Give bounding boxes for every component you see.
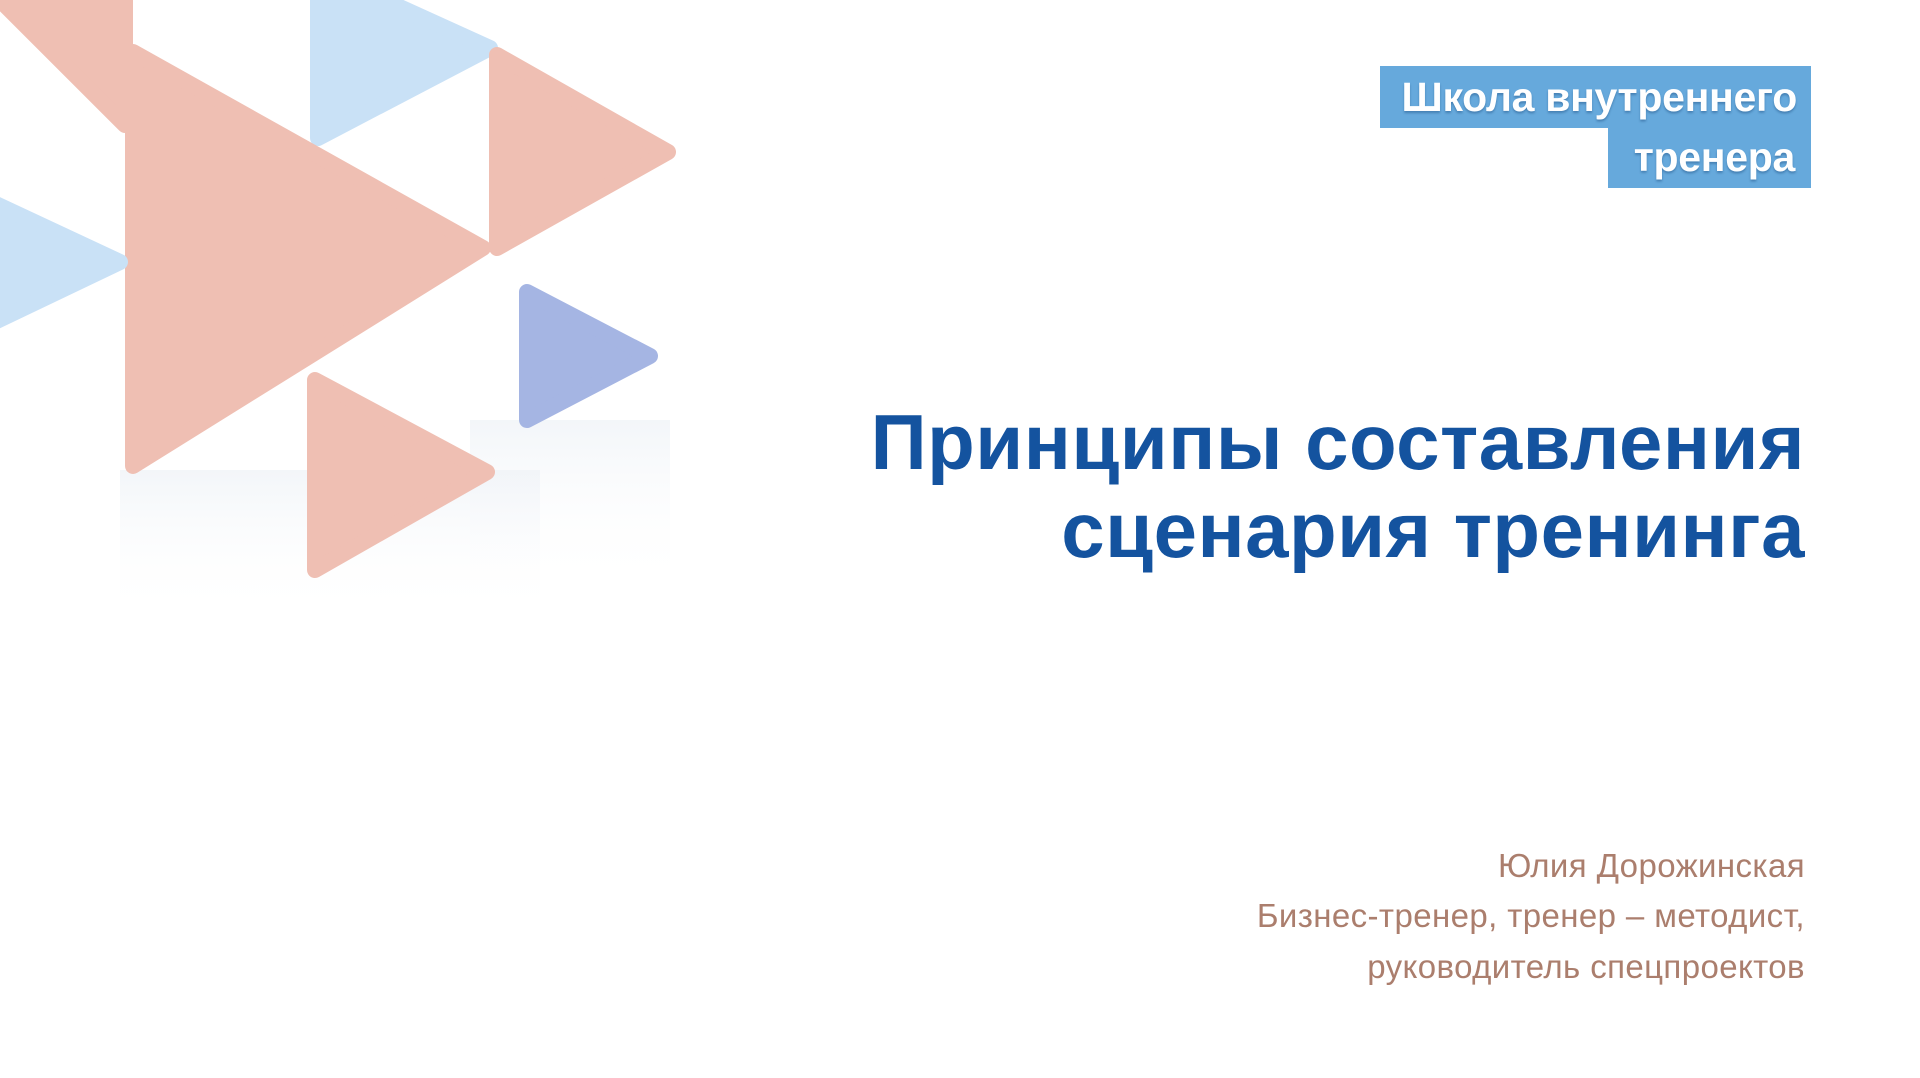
salmon-triangle-large-center bbox=[133, 52, 483, 466]
title-line-2: сценария тренинга bbox=[700, 486, 1805, 574]
logo-badge-row-2: тренера bbox=[1273, 126, 1811, 188]
author-role-line-2: руководитель спецпроектов bbox=[760, 946, 1805, 989]
logo-badge-line-2: тренера bbox=[1608, 126, 1811, 188]
author-name: Юлия Дорожинская bbox=[760, 845, 1805, 887]
author-role-line-1: Бизнес-тренер, тренер – методист, bbox=[760, 895, 1805, 938]
salmon-triangle-right bbox=[497, 55, 668, 248]
logo-badge: Школа внутреннего тренера bbox=[1273, 66, 1811, 188]
logo-badge-row-1: Школа внутреннего bbox=[1273, 66, 1811, 128]
title-slide: Школа внутреннего тренера Принципы соста… bbox=[0, 0, 1920, 1078]
author-block: Юлия Дорожинская Бизнес-тренер, тренер –… bbox=[760, 845, 1805, 989]
salmon-triangle-top-left bbox=[0, 0, 125, 125]
light-blue-triangle-left bbox=[0, 178, 120, 348]
title-line-1: Принципы составления bbox=[700, 398, 1805, 486]
salmon-triangle-bottom bbox=[315, 380, 487, 570]
periwinkle-triangle bbox=[527, 292, 650, 420]
triangle-pattern bbox=[0, 0, 700, 620]
light-blue-triangle-top bbox=[318, 0, 490, 138]
page-title: Принципы составления сценария тренинга bbox=[700, 398, 1805, 574]
logo-badge-line-1: Школа внутреннего bbox=[1380, 66, 1811, 128]
